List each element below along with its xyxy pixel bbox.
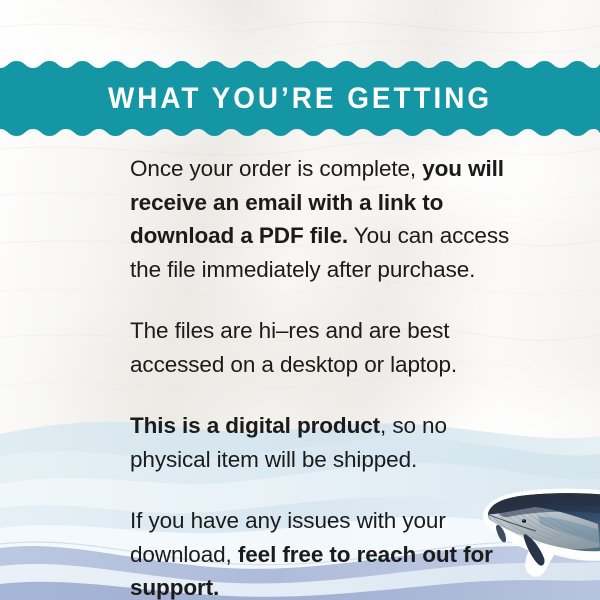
paragraph-digital-product: This is a digital product, so no physica…: [130, 409, 510, 476]
banner-bottom-wave-edge: [0, 124, 600, 138]
paragraph-order-complete: Once your order is complete, you will re…: [130, 152, 510, 286]
paragraph-hi-res: The files are hi–res and are best access…: [130, 314, 510, 381]
promo-card: WHAT YOU’RE GETTING: [0, 0, 600, 600]
header-banner: WHAT YOU’RE GETTING: [0, 60, 600, 138]
text-run: The files are hi–res and are best access…: [130, 318, 457, 377]
text-run: Once your order is complete,: [130, 156, 422, 181]
whale-eye-highlight: [523, 520, 524, 521]
body-copy: Once your order is complete, you will re…: [130, 152, 510, 600]
text-run-bold: This is a digital product: [130, 413, 380, 438]
whale-eye: [522, 519, 526, 523]
page-title: WHAT YOU’RE GETTING: [21, 70, 579, 128]
paragraph-support: If you have any issues with your downloa…: [130, 504, 510, 600]
